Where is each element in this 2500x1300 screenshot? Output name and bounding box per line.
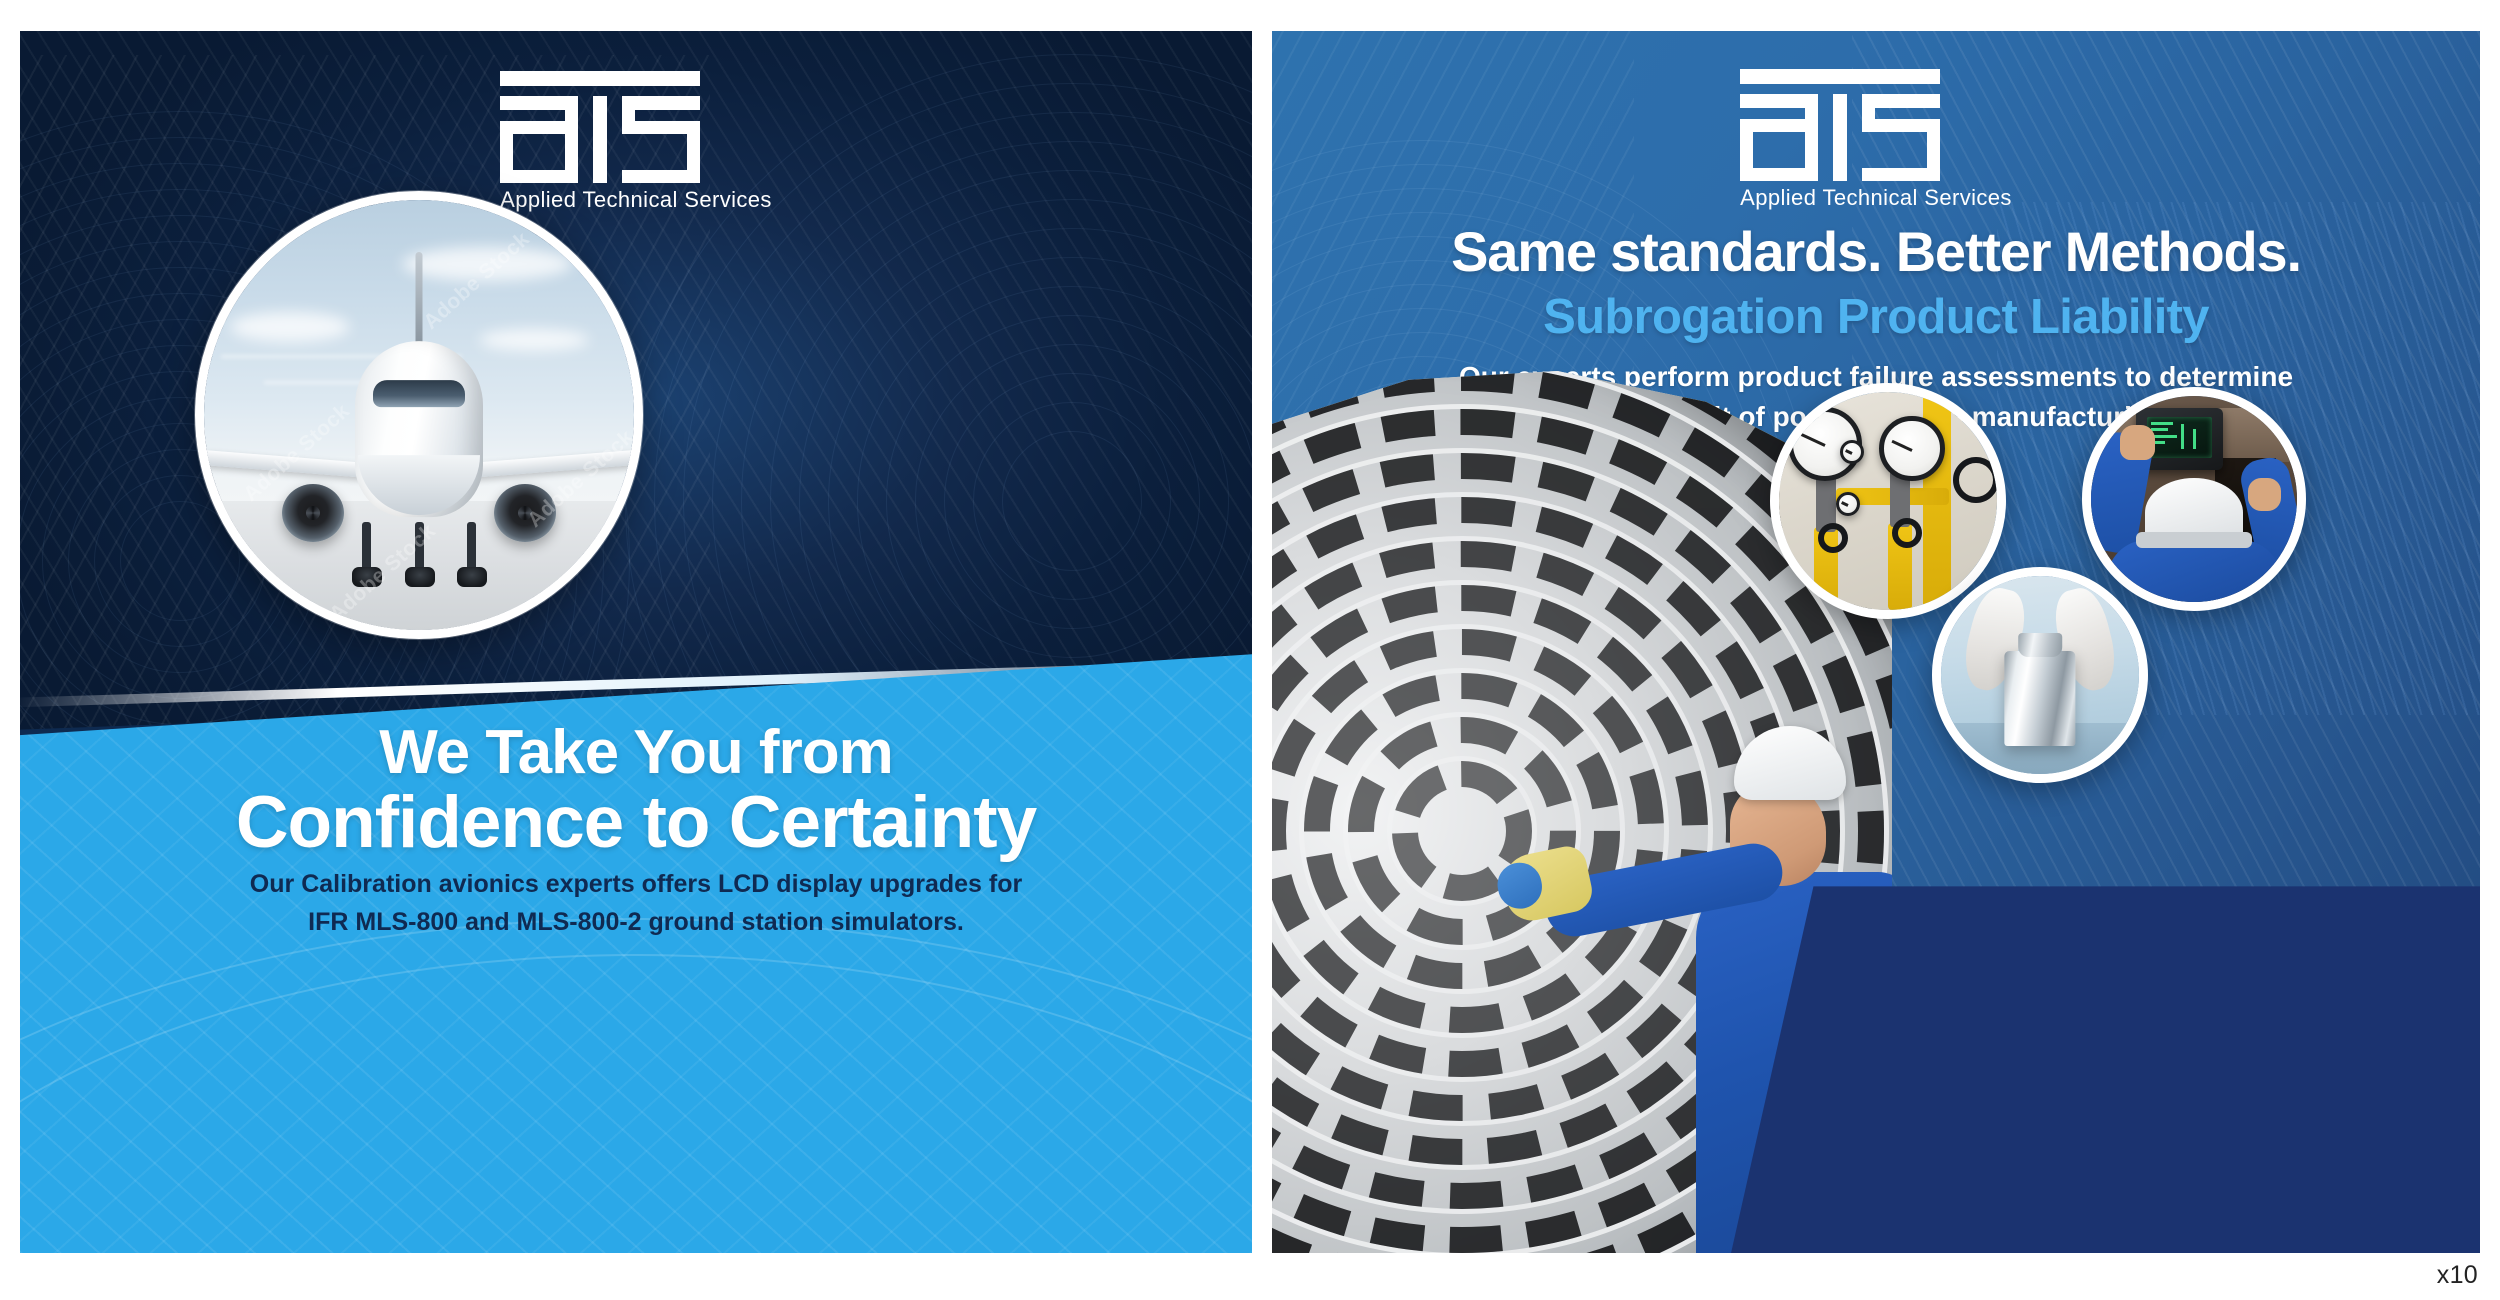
airplane-photo-circle: Adobe Stock Adobe Stock Adobe Stock Adob… <box>195 191 643 639</box>
pressure-gauge-dial-small <box>1840 440 1864 464</box>
right-panel-headline: Same standards. Better Methods. <box>1292 219 2460 284</box>
ats-logo-mark-icon <box>1740 69 1940 181</box>
screenshot-canvas: Applied Technical Services <box>0 0 2500 1300</box>
calibration-weight-photo-circle <box>1932 567 2148 783</box>
technician-hard-hat <box>1734 726 1846 800</box>
airplane-landing-gear <box>362 522 371 574</box>
inspector-hard-hat-strap <box>2136 532 2251 548</box>
calibration-lab-scene <box>1941 576 2139 774</box>
airplane-nose-cone <box>358 455 480 515</box>
right-panel-subheadline: Subrogation Product Liability <box>1292 289 2460 345</box>
left-panel-logo-wrap: Applied Technical Services <box>20 71 1252 213</box>
valve-handwheel <box>1818 523 1848 553</box>
left-subtext-line-2: IFR MLS-800 and MLS-800-2 ground station… <box>80 904 1192 942</box>
right-panel-navy-block <box>1731 886 2480 1253</box>
calibration-weight-knob <box>2018 633 2062 657</box>
inspector-hand-left <box>2120 425 2155 460</box>
left-headline-line-2: Confidence to Certainty <box>20 785 1252 860</box>
airplane-landing-gear <box>415 522 424 574</box>
left-subtext-line-1: Our Calibration avionics experts offers … <box>80 866 1192 904</box>
pressure-gauge-dial <box>1879 416 1944 481</box>
airplane-fuselage <box>355 341 483 517</box>
ats-logo: Applied Technical Services <box>500 71 772 213</box>
airplane-cockpit-windows <box>373 380 465 407</box>
pressure-gauge-dial-small <box>1836 492 1860 516</box>
inspector-hand-right <box>2248 478 2281 511</box>
multiplier-label: x10 <box>2437 1261 2478 1290</box>
ats-logo: Applied Technical Services <box>1740 69 2012 211</box>
cloud-shape <box>230 312 350 342</box>
flaw-detector-screen <box>2147 417 2213 458</box>
cloud-shape <box>479 329 589 351</box>
right-ad-panel[interactable]: Applied Technical Services Same standard… <box>1272 31 2480 1253</box>
calibration-mass-weight <box>2004 651 2075 746</box>
left-headline-line-1: We Take You from <box>20 721 1252 785</box>
airplane-engine-right <box>494 484 556 542</box>
sky-background: Adobe Stock Adobe Stock Adobe Stock Adob… <box>204 200 634 630</box>
left-panel-headline: We Take You from Confidence to Certainty <box>20 721 1252 860</box>
left-ad-panel[interactable]: Applied Technical Services <box>20 31 1252 1253</box>
ats-logo-company-name: Applied Technical Services <box>1740 185 2012 211</box>
airplane-landing-gear <box>467 522 476 574</box>
ats-logo-mark-icon <box>500 71 700 183</box>
valve-handwheel <box>1892 518 1922 548</box>
left-panel-subtext: Our Calibration avionics experts offers … <box>80 866 1192 941</box>
cloud-shape <box>402 247 572 281</box>
weld-inspection-scene <box>2091 396 2297 602</box>
valve-handwheel <box>1953 457 1999 503</box>
right-panel-logo-wrap: Applied Technical Services <box>1272 69 2480 211</box>
airplane-engine-left <box>282 484 344 542</box>
